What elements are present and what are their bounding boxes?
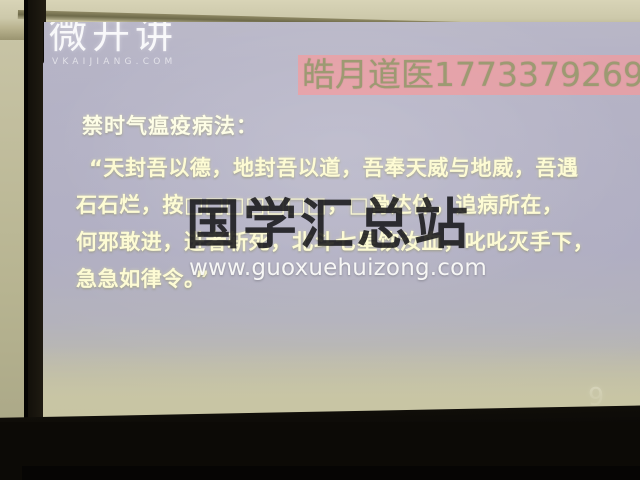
slide-title: 禁时气瘟疫病法：: [82, 110, 258, 140]
slide-body-line: 急急如律令。”: [76, 261, 640, 298]
screen-frame-foot: [22, 466, 640, 480]
brand-logo: 微开讲 VKAIJIANG.COM: [43, 22, 178, 67]
contact-banner-text: 皓月道医17733792690: [302, 56, 640, 94]
screen-frame-left-shadow: [24, 0, 28, 480]
brand-logo-text: 微开讲 VKAIJIANG.COM: [49, 22, 178, 67]
slide-body-line: 石石烂，按□□□□□□□，□骨达体，追病所在，: [76, 187, 640, 224]
wall-left-strip: [0, 0, 24, 480]
brand-domain: VKAIJIANG.COM: [52, 57, 178, 67]
brand-name-cn: 微开讲: [49, 22, 178, 54]
slide-body-line: 何邪敢进，进者斩死，北斗七星饮汝血，叱叱灭手下，: [76, 224, 640, 261]
projected-slide: 微开讲 VKAIJIANG.COM 皓月道医17733792690 禁时气瘟疫病…: [43, 22, 640, 438]
screenshot-root: 微开讲 VKAIJIANG.COM 皓月道医17733792690 禁时气瘟疫病…: [0, 0, 640, 480]
contact-banner: 皓月道医17733792690: [298, 55, 640, 95]
slide-body: “天封吾以德，地封吾以道，吾奉天威与地威，吾遇 石石烂，按□□□□□□□，□骨达…: [76, 150, 640, 298]
slide-body-line: “天封吾以德，地封吾以道，吾奉天威与地威，吾遇: [76, 150, 640, 187]
